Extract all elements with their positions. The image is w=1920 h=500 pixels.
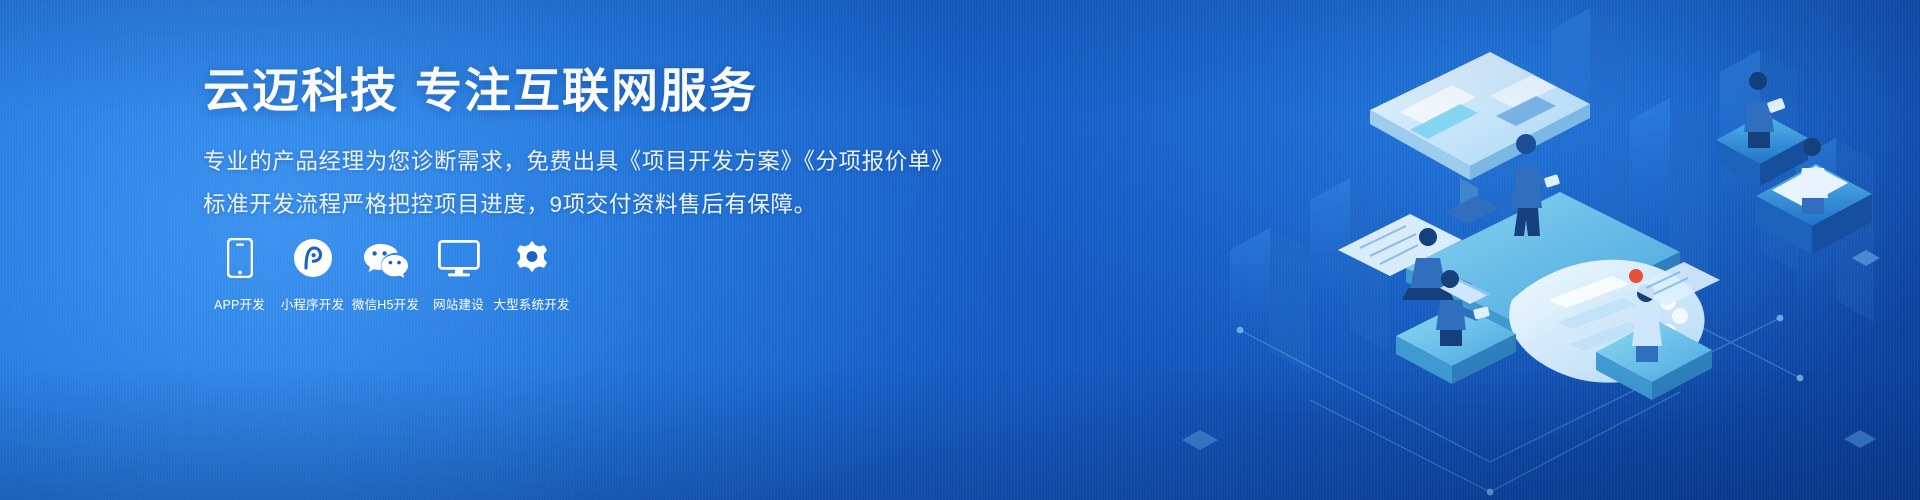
service-item-website[interactable]: 网站建设 bbox=[422, 232, 495, 313]
mobile-phone-icon bbox=[227, 232, 253, 278]
hero-banner: 云迈科技专注互联网服务 专业的产品经理为您诊断需求，免费出具《项目开发方案》《分… bbox=[0, 0, 1920, 500]
gear-icon bbox=[511, 232, 553, 278]
service-label: 微信H5开发 bbox=[352, 294, 419, 313]
isometric-illustration bbox=[1160, 0, 1920, 500]
service-item-wechat-h5[interactable]: 微信H5开发 bbox=[349, 232, 422, 313]
service-item-mini-program[interactable]: 小程序开发 bbox=[276, 232, 349, 313]
service-item-large-system[interactable]: 大型系统开发 bbox=[495, 232, 568, 313]
mini-program-icon bbox=[293, 232, 333, 278]
service-item-app[interactable]: APP开发 bbox=[203, 232, 276, 313]
service-label: APP开发 bbox=[214, 294, 265, 313]
brand-tagline: 专注互联网服务 bbox=[415, 64, 758, 117]
brand-name: 云迈科技 bbox=[203, 64, 399, 117]
service-label: 大型系统开发 bbox=[493, 294, 569, 313]
service-label: 小程序开发 bbox=[281, 294, 345, 313]
subtitle-line-2: 标准开发流程严格把控项目进度，9项交付资料售后有保障。 bbox=[203, 188, 903, 221]
monitor-icon bbox=[438, 232, 480, 278]
subtitle-line-1: 专业的产品经理为您诊断需求，免费出具《项目开发方案》《分项报价单》 bbox=[203, 145, 903, 178]
hero-subtitle: 专业的产品经理为您诊断需求，免费出具《项目开发方案》《分项报价单》 标准开发流程… bbox=[203, 145, 903, 221]
wechat-icon bbox=[363, 232, 409, 278]
service-label: 网站建设 bbox=[433, 294, 484, 313]
hero-copy: 云迈科技专注互联网服务 专业的产品经理为您诊断需求，免费出具《项目开发方案》《分… bbox=[203, 62, 903, 230]
page-title: 云迈科技专注互联网服务 bbox=[203, 62, 903, 119]
service-list: APP开发 小程序开发 微信H5开发 bbox=[203, 232, 568, 313]
